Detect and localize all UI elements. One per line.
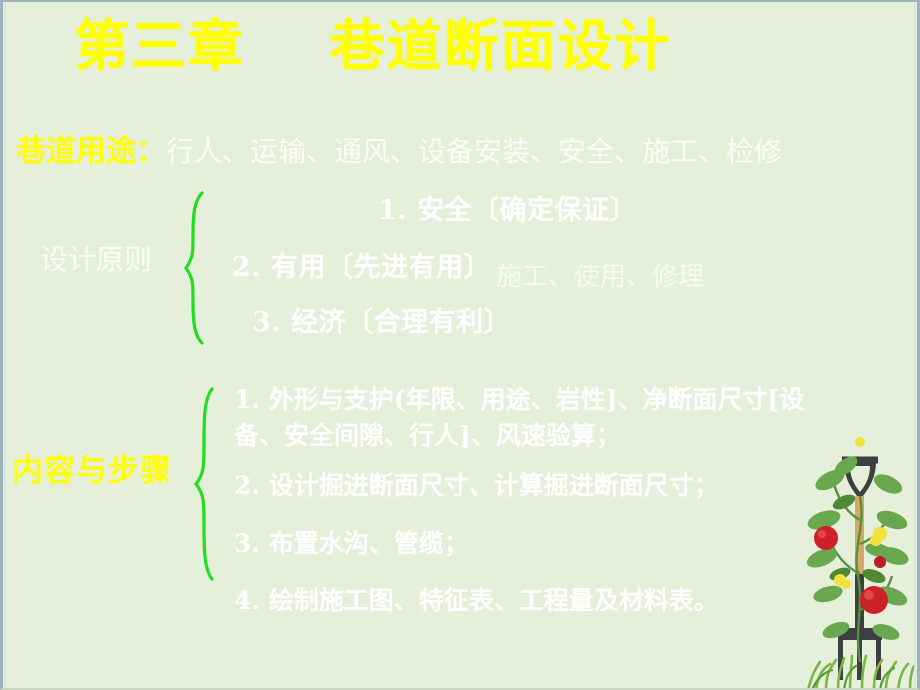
content-step-item-3: 3. 布置水沟、管缆； <box>234 524 469 560</box>
content-step-item-4: 4. 绘制施工图、特征表、工程量及材料表。 <box>234 581 719 617</box>
content-step-item-2: 2. 设计掘进断面尺寸、计算掘进断面尺寸； <box>234 466 719 502</box>
page-title: 第三章 巷道断面设计 <box>74 14 672 77</box>
principle-item-1: 1. 安全〔确定保证〕 <box>378 188 637 227</box>
slide-canvas: 第三章 巷道断面设计 巷道用途：行人、运输、通风、设备安装、安全、施工、检修 设… <box>0 0 920 690</box>
principle-annotation: 施工、使用、修理 <box>496 256 704 293</box>
content-steps-label: 内容与步骤 <box>12 445 172 490</box>
tomato-plant-decoration-icon <box>800 424 920 690</box>
principle-item-2: 2. 有用〔先进有用〕 <box>232 245 491 284</box>
usage-row: 巷道用途：行人、运输、通风、设备安装、安全、施工、检修 <box>16 126 782 170</box>
design-principles-label: 设计原则 <box>40 238 152 278</box>
usage-text: 行人、运输、通风、设备安装、安全、施工、检修 <box>166 135 782 168</box>
principle-item-3: 3. 经济〔合理有利〕 <box>252 300 511 339</box>
principles-brace-icon <box>182 190 216 346</box>
content-step-item-1: 1. 外形与支护(年限、用途、岩性]、净断面尺寸[设备、安全间隙、行人]、风速验… <box>234 382 834 453</box>
content-steps-brace-icon <box>192 386 226 582</box>
usage-label: 巷道用途： <box>16 134 166 169</box>
